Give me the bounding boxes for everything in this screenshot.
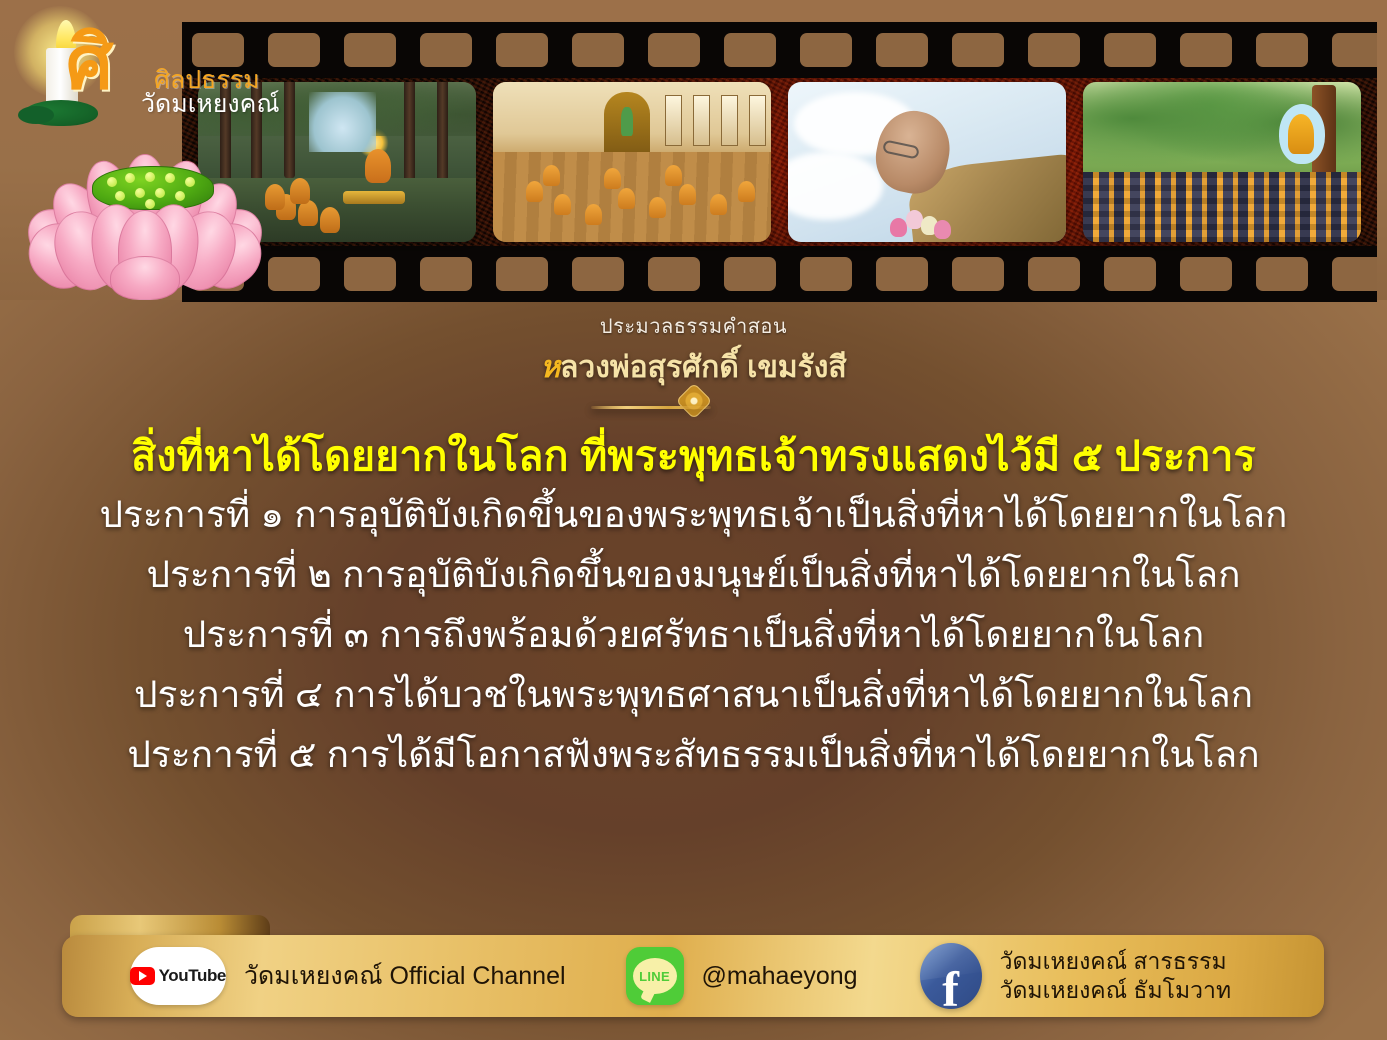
sprocket-hole [1256, 33, 1308, 67]
facebook-page-2: วัดมเหยงคณ์ ธัมโมวาท [1000, 976, 1232, 1005]
lotus-seed-pod [92, 166, 214, 210]
divider-diamond-icon [675, 383, 712, 420]
sprocket-hole [1332, 33, 1377, 67]
ornament-divider [529, 386, 859, 416]
photo-buddha-with-assembly-grove [1083, 82, 1361, 242]
line-id-label: @mahaeyong [702, 962, 858, 991]
line-icon[interactable]: LINE [626, 947, 684, 1005]
poster-canvas: ศิ ศิลปธรรม วัดมเหยงคณ์ [0, 0, 1387, 1040]
page-title: สิ่งที่หาได้โดยยากในโลก ที่พระพุทธเจ้าทร… [0, 424, 1387, 489]
sprocket-hole [648, 257, 700, 291]
sprocket-hole [572, 257, 624, 291]
facebook-glyph: f [942, 966, 959, 1010]
sprocket-hole [724, 257, 776, 291]
teaching-lines: ประการที่ ๑ การอุบัติบังเกิดขึ้นของพระพุ… [0, 496, 1387, 796]
facebook-entry[interactable]: f วัดมเหยงคณ์ สารธรรม วัดมเหยงคณ์ ธัมโมว… [858, 943, 1232, 1009]
youtube-wordmark: YouTube [159, 966, 226, 986]
sprocket-hole [1104, 257, 1156, 291]
sprocket-hole [952, 257, 1004, 291]
divider-bar-right [591, 406, 711, 409]
youtube-icon[interactable]: YouTube [130, 947, 226, 1005]
sprocket-hole [344, 257, 396, 291]
teaching-line: ประการที่ ๕ การได้มีโอกาสฟังพระสัทธรรมเป… [0, 736, 1387, 773]
youtube-channel-label: วัดมเหยงคณ์ Official Channel [244, 956, 566, 996]
youtube-entry[interactable]: YouTube วัดมเหยงคณ์ Official Channel [62, 947, 566, 1005]
sprocket-hole [800, 33, 852, 67]
logo-brand-line2: วัดมเหยงคณ์ [141, 84, 280, 124]
photo-senior-monk-portrait [788, 82, 1066, 242]
footer: YouTube วัดมเหยงคณ์ Official Channel LIN… [0, 915, 1387, 1025]
sprocket-hole [876, 33, 928, 67]
subtitle-label: ประมวลธรรมคำสอน [0, 310, 1387, 342]
sprocket-hole [1256, 257, 1308, 291]
teaching-line: ประการที่ ๔ การได้บวชในพระพุทธศาสนาเป็นส… [0, 676, 1387, 713]
footer-bar: YouTube วัดมเหยงคณ์ Official Channel LIN… [62, 935, 1324, 1017]
sprocket-hole [1180, 257, 1232, 291]
line-wordmark: LINE [639, 969, 670, 984]
sprocket-hole [268, 33, 320, 67]
youtube-play-icon [130, 967, 155, 985]
sprocket-hole [344, 33, 396, 67]
brand-logo: ศิ ศิลปธรรม วัดมเหยงคณ์ [8, 4, 198, 124]
photo-monks-assembly-hall [493, 82, 771, 242]
sprocket-hole [1028, 257, 1080, 291]
filmstrip [182, 22, 1377, 302]
filmstrip-sprockets-top [182, 22, 1377, 78]
sprocket-hole [496, 33, 548, 67]
facebook-page-1: วัดมเหยงคณ์ สารธรรม [1000, 947, 1232, 976]
teaching-line: ประการที่ ๒ การอุบัติบังเกิดขึ้นของมนุษย… [0, 556, 1387, 593]
filmstrip-frames [182, 78, 1377, 246]
logo-sila-glyph: ศิ [66, 26, 113, 100]
sprocket-hole [724, 33, 776, 67]
sprocket-hole [268, 257, 320, 291]
sprocket-hole [572, 33, 624, 67]
filmstrip-sprockets-bottom [182, 246, 1377, 302]
lotus-icon [30, 152, 260, 300]
sprocket-hole [1332, 257, 1377, 291]
sprocket-hole [648, 33, 700, 67]
sprocket-hole [952, 33, 1004, 67]
line-bubble-icon: LINE [633, 958, 677, 994]
teaching-line: ประการที่ ๑ การอุบัติบังเกิดขึ้นของพระพุ… [0, 496, 1387, 533]
sprocket-hole [800, 257, 852, 291]
teaching-line: ประการที่ ๓ การถึงพร้อมด้วยศรัทธาเป็นสิ่… [0, 616, 1387, 653]
author-rest: ลวงพ่อสุรศักดิ์ เขมรังสี [560, 351, 847, 384]
sprocket-hole [876, 257, 928, 291]
sprocket-hole [420, 33, 472, 67]
sprocket-hole [420, 257, 472, 291]
sprocket-hole [1180, 33, 1232, 67]
author-initial: ห [540, 351, 560, 384]
sprocket-hole [1104, 33, 1156, 67]
sprocket-hole [496, 257, 548, 291]
facebook-pages: วัดมเหยงคณ์ สารธรรม วัดมเหยงคณ์ ธัมโมวาท [1000, 947, 1232, 1005]
facebook-icon[interactable]: f [920, 943, 982, 1009]
line-entry[interactable]: LINE @mahaeyong [566, 947, 858, 1005]
sprocket-hole [1028, 33, 1080, 67]
